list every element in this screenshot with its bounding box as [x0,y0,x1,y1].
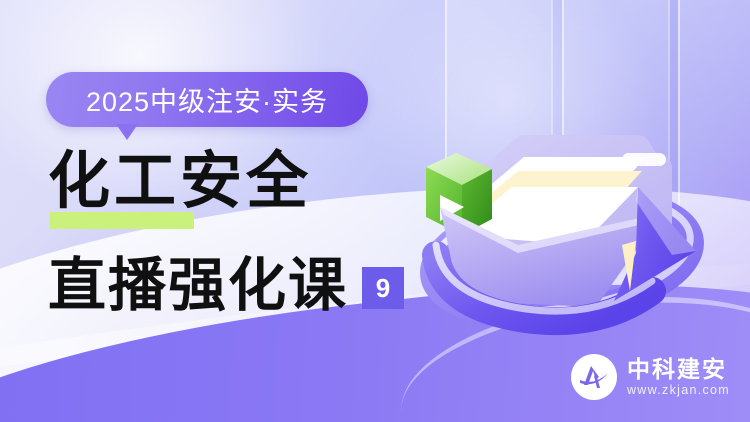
badge-tail-pointer [116,124,138,140]
course-category-badge: 2025中级注安·实务 [46,72,368,127]
headline-line-2-text: 直播强化课 [48,256,348,314]
brand-url: www.zkjan.com [627,384,730,397]
headline-line-1-text: 化工安全 [48,144,312,217]
headline-line-1: 化工安全 [48,150,404,226]
episode-number-badge: 9 [362,267,404,309]
course-promo-banner: 2025中级注安·实务 化工安全 直播强化课 9 中科建安 www.zkjan [0,0,750,422]
brand-name: 中科建安 [627,358,730,381]
brand-logo[interactable]: 中科建安 www.zkjan.com [571,354,730,400]
episode-number-label: 9 [376,275,390,301]
course-category-badge-label: 2025中级注安·实务 [86,80,328,119]
brand-logo-icon [571,354,617,400]
course-illustration [400,95,730,345]
headline-block: 化工安全 直播强化课 9 [48,150,404,314]
headline-line-2: 直播强化课 9 [48,244,404,314]
brand-logo-text: 中科建安 www.zkjan.com [627,358,730,397]
